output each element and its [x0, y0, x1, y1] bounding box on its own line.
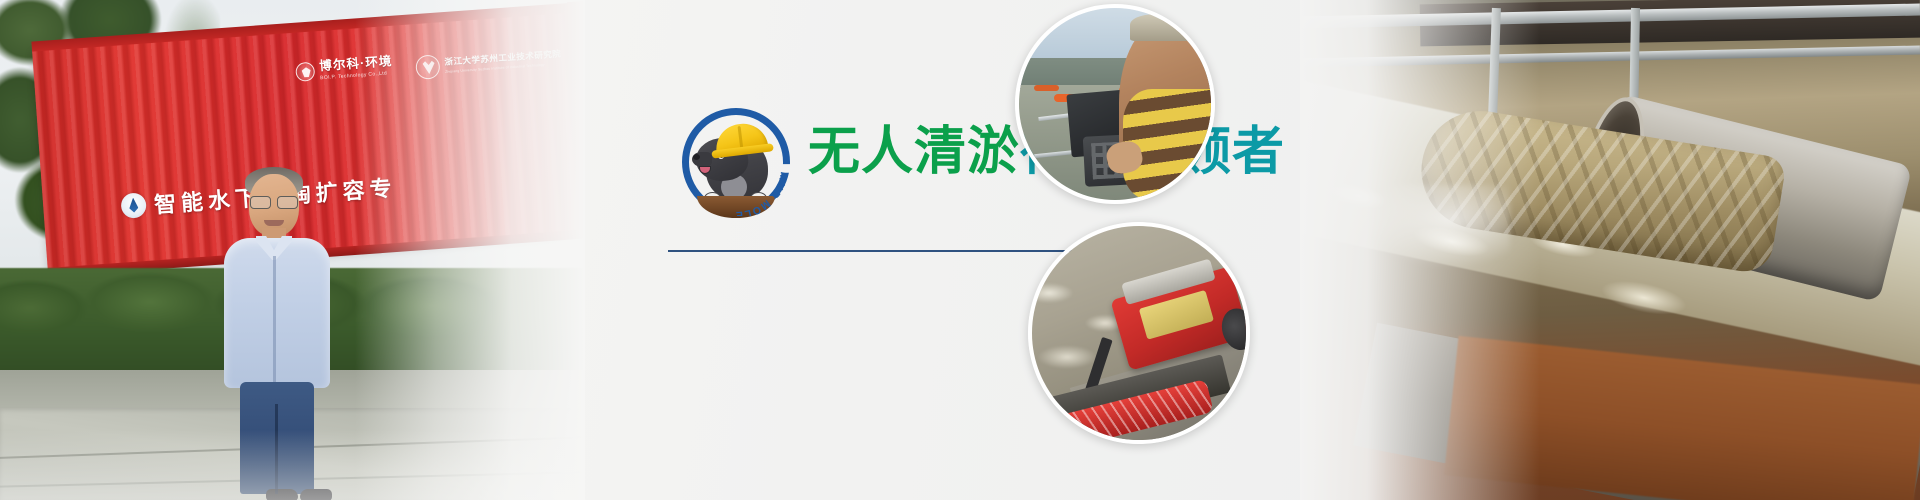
person-shirt-placket — [273, 256, 276, 384]
mud-mole-logo: MUD MOLE — [682, 108, 790, 216]
right-photo-left-fade — [1300, 0, 1540, 500]
dredging-robot-circle-photo — [1028, 222, 1250, 444]
headline-green-part: 无人清淤 — [808, 122, 1020, 182]
logo-arc-label: MUD MOLE — [734, 171, 790, 216]
left-photo-container-executive: 博尔科·环境 BOI.P. Technology Co.,Ltd 浙江大学苏州工… — [0, 0, 585, 500]
orange-float-a — [1034, 85, 1059, 91]
person-glasses — [249, 196, 299, 208]
promotional-banner: 博尔科·环境 BOI.P. Technology Co.,Ltd 浙江大学苏州工… — [0, 0, 1920, 500]
right-photo-sludge-discharge — [1300, 0, 1920, 500]
logo-arc-text: MUD MOLE — [682, 108, 790, 216]
left-photo-bottom-fade — [0, 430, 585, 500]
slogan-badge-icon — [120, 192, 147, 219]
operator-cap — [1130, 14, 1195, 41]
person-mouth — [264, 220, 284, 226]
company-seal-icon — [295, 62, 315, 82]
operator-circle-photo — [1015, 4, 1215, 204]
person-shirt — [224, 238, 330, 388]
left-photo-right-fade — [355, 0, 585, 500]
